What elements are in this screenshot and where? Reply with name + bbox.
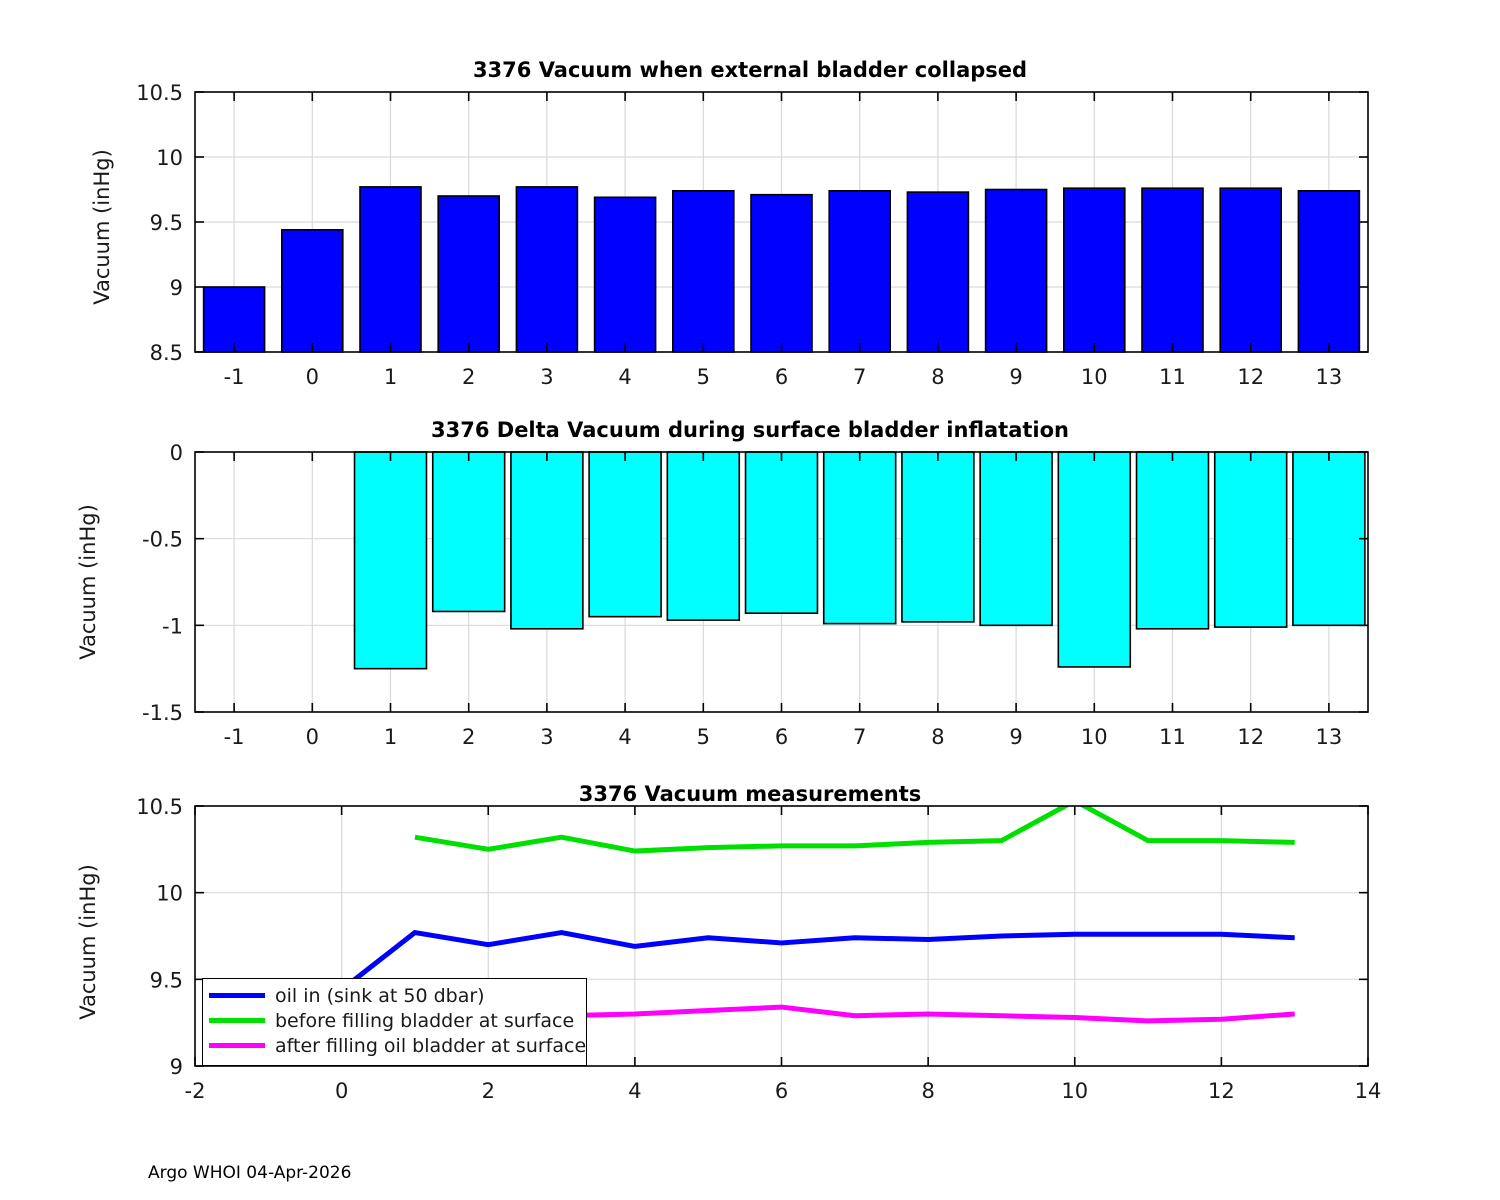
chart-panel-delta-vacuum: 3376 Delta Vacuum during surface bladder… bbox=[0, 400, 1500, 760]
legend-swatch-green bbox=[209, 1018, 265, 1023]
chart3-xtick-label: 14 bbox=[1355, 1079, 1382, 1103]
chart1-plot-area: 8.599.51010.5-1012345678910111213 bbox=[0, 0, 1500, 400]
chart1-xtick-label: 8 bbox=[931, 365, 944, 389]
chart2-xtick-label: 8 bbox=[931, 725, 944, 749]
chart3-legend[interactable]: oil in (sink at 50 dbar) before filling … bbox=[202, 978, 587, 1066]
chart2-xtick-label: 2 bbox=[462, 725, 475, 749]
chart-panel-vacuum-collapsed: 3376 Vacuum when external bladder collap… bbox=[0, 0, 1500, 400]
legend-swatch-magenta bbox=[209, 1043, 265, 1048]
chart3-xtick-label: 4 bbox=[628, 1079, 641, 1103]
bar bbox=[589, 452, 661, 617]
bar bbox=[1142, 188, 1203, 352]
bar bbox=[829, 191, 890, 352]
legend-item-before-filling[interactable]: before filling bladder at surface bbox=[209, 1008, 578, 1033]
bar bbox=[1064, 188, 1125, 352]
bar bbox=[980, 452, 1052, 625]
chart2-xtick-label: 9 bbox=[1009, 725, 1022, 749]
chart1-xtick-label: 12 bbox=[1237, 365, 1264, 389]
chart3-xtick-label: 10 bbox=[1061, 1079, 1088, 1103]
chart1-xtick-label: 11 bbox=[1159, 365, 1186, 389]
chart3-ytick-label: 10.5 bbox=[136, 795, 183, 819]
chart2-xtick-label: 4 bbox=[618, 725, 631, 749]
bar bbox=[907, 192, 968, 352]
bar bbox=[824, 452, 896, 624]
bar bbox=[360, 187, 421, 352]
chart1-ytick-label: 9.5 bbox=[150, 211, 183, 235]
chart3-xtick-label: 2 bbox=[482, 1079, 495, 1103]
figure-footer: Argo WHOI 04-Apr-2026 bbox=[148, 1163, 351, 1183]
bar bbox=[746, 452, 818, 613]
chart2-xtick-label: 12 bbox=[1237, 725, 1264, 749]
bar bbox=[751, 195, 812, 352]
chart2-xtick-label: 11 bbox=[1159, 725, 1186, 749]
chart3-xtick-label: -2 bbox=[185, 1079, 206, 1103]
bar bbox=[1293, 452, 1365, 625]
legend-label-oil-in: oil in (sink at 50 dbar) bbox=[275, 985, 485, 1007]
chart2-ytick-label: -1.5 bbox=[142, 701, 183, 725]
chart2-xtick-label: 6 bbox=[775, 725, 788, 749]
bar bbox=[986, 190, 1047, 353]
chart2-xtick-label: 3 bbox=[540, 725, 553, 749]
chart1-xtick-label: 7 bbox=[853, 365, 866, 389]
chart2-xtick-label: 5 bbox=[697, 725, 710, 749]
legend-swatch-blue bbox=[209, 993, 265, 998]
legend-item-oil-in[interactable]: oil in (sink at 50 dbar) bbox=[209, 983, 578, 1008]
chart3-plot-area: 99.51010.5-202468101214 bbox=[0, 760, 1500, 1130]
chart1-xtick-label: 3 bbox=[540, 365, 553, 389]
chart2-ytick-label: 0 bbox=[170, 441, 183, 465]
chart2-ytick-label: -0.5 bbox=[142, 528, 183, 552]
chart-panel-vacuum-measurements: 3376 Vacuum measurements Vacuum (inHg) 9… bbox=[0, 760, 1500, 1130]
chart1-xtick-label: 10 bbox=[1081, 365, 1108, 389]
bar bbox=[282, 230, 343, 352]
chart2-xtick-label: 1 bbox=[384, 725, 397, 749]
chart1-xtick-label: -1 bbox=[224, 365, 245, 389]
chart1-xtick-label: 4 bbox=[618, 365, 631, 389]
bar bbox=[1137, 452, 1209, 629]
chart2-xtick-label: 13 bbox=[1316, 725, 1343, 749]
chart2-ytick-label: -1 bbox=[162, 614, 183, 638]
chart1-ytick-label: 10 bbox=[156, 146, 183, 170]
line-series bbox=[415, 801, 1295, 851]
chart1-xtick-label: 0 bbox=[306, 365, 319, 389]
chart2-xtick-label: 10 bbox=[1081, 725, 1108, 749]
chart1-xtick-label: 1 bbox=[384, 365, 397, 389]
chart2-xtick-label: -1 bbox=[224, 725, 245, 749]
bar bbox=[673, 191, 734, 352]
chart3-xtick-label: 8 bbox=[921, 1079, 934, 1103]
chart3-xtick-label: 0 bbox=[335, 1079, 348, 1103]
chart1-xtick-label: 13 bbox=[1316, 365, 1343, 389]
bar bbox=[1220, 188, 1281, 352]
chart1-xtick-label: 9 bbox=[1009, 365, 1022, 389]
bar bbox=[1058, 452, 1130, 667]
chart1-ytick-label: 10.5 bbox=[136, 81, 183, 105]
chart3-ytick-label: 10 bbox=[156, 882, 183, 906]
chart3-ytick-label: 9 bbox=[170, 1055, 183, 1079]
legend-label-after-filling: after filling oil bladder at surface bbox=[275, 1035, 586, 1057]
chart1-xtick-label: 2 bbox=[462, 365, 475, 389]
chart3-xtick-label: 12 bbox=[1208, 1079, 1235, 1103]
chart2-plot-area: -1.5-1-0.50-1012345678910111213 bbox=[0, 400, 1500, 760]
matlab-figure: 3376 Vacuum when external bladder collap… bbox=[0, 0, 1500, 1200]
bar bbox=[355, 452, 427, 669]
legend-label-before-filling: before filling bladder at surface bbox=[275, 1010, 574, 1032]
bar bbox=[902, 452, 974, 622]
bar bbox=[595, 197, 656, 352]
bar bbox=[667, 452, 739, 620]
chart3-ytick-label: 9.5 bbox=[150, 968, 183, 992]
bar bbox=[516, 187, 577, 352]
bar bbox=[433, 452, 505, 611]
bar bbox=[1215, 452, 1287, 627]
chart3-xtick-label: 6 bbox=[775, 1079, 788, 1103]
bar bbox=[204, 287, 265, 352]
chart2-xtick-label: 7 bbox=[853, 725, 866, 749]
chart1-xtick-label: 5 bbox=[697, 365, 710, 389]
chart1-xtick-label: 6 bbox=[775, 365, 788, 389]
chart2-xtick-label: 0 bbox=[306, 725, 319, 749]
bar bbox=[511, 452, 583, 629]
bar bbox=[1298, 191, 1359, 352]
chart1-ytick-label: 8.5 bbox=[150, 341, 183, 365]
legend-item-after-filling[interactable]: after filling oil bladder at surface bbox=[209, 1033, 578, 1058]
bar bbox=[438, 196, 499, 352]
chart1-ytick-label: 9 bbox=[170, 276, 183, 300]
